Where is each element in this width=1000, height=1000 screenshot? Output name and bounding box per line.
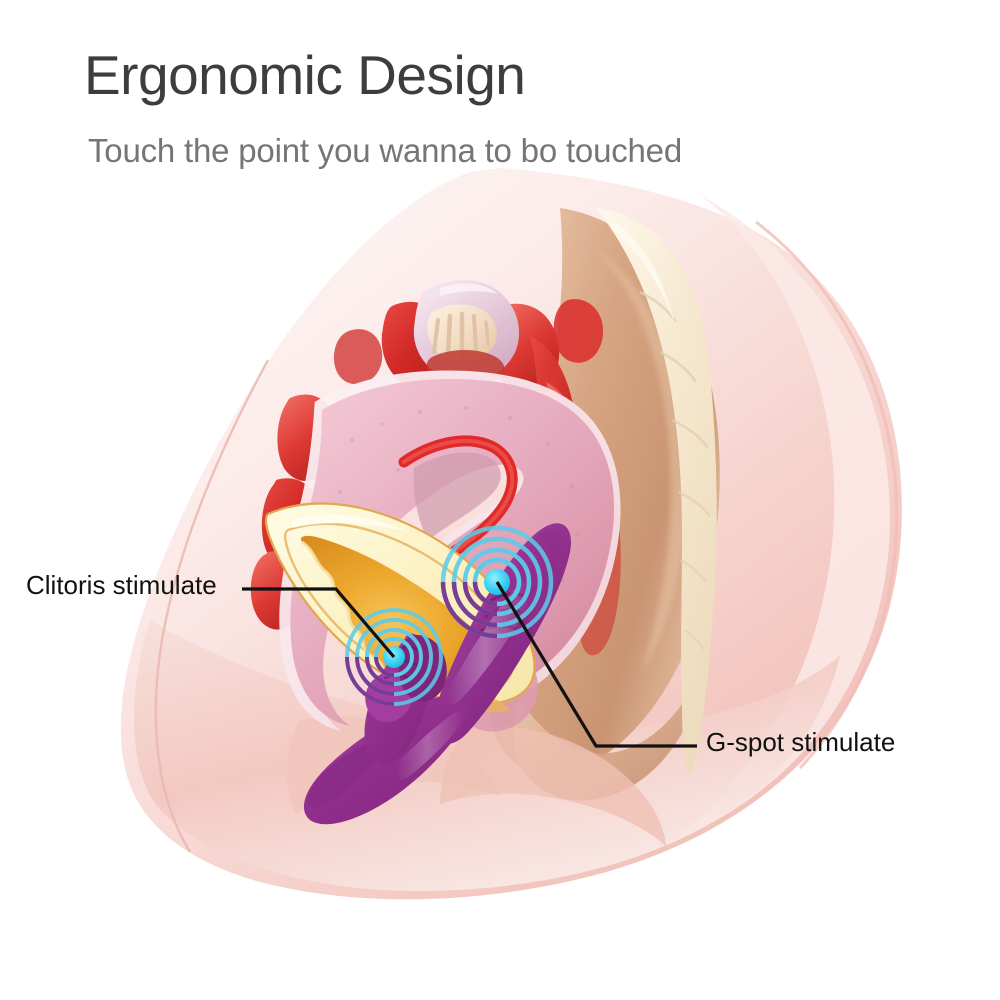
callout-label-clitoris: Clitoris stimulate bbox=[26, 570, 217, 600]
product-infographic: Ergonomic Design Touch the point you wan… bbox=[0, 0, 1000, 1000]
fimbria-5 bbox=[486, 322, 488, 344]
anatomy-illustration bbox=[0, 0, 1000, 1000]
callout-label-gspot: G-spot stimulate bbox=[706, 727, 895, 757]
fimbria-2 bbox=[448, 316, 450, 354]
ovary-and-fimbriae bbox=[414, 280, 519, 385]
fimbria-4 bbox=[474, 316, 476, 350]
